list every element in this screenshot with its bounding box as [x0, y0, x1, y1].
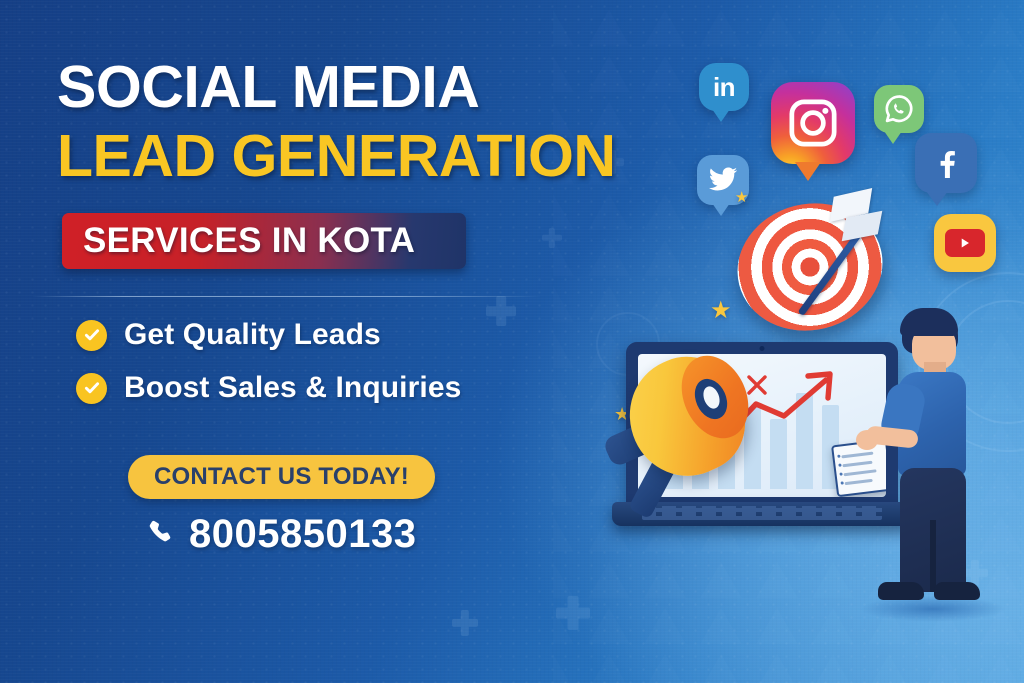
- bubble-tail: [712, 109, 730, 122]
- ribbon-label: SERVICES IN KOTA: [83, 221, 415, 261]
- phone-handset-icon: [146, 517, 176, 552]
- checklist-dot: [838, 463, 841, 466]
- cta-label: CONTACT US TODAY!: [154, 463, 409, 491]
- dartboard-target-icon: [737, 196, 887, 336]
- youtube-icon[interactable]: [934, 214, 996, 272]
- twitter-bird-glyph: [706, 163, 740, 197]
- phone-contact[interactable]: 8005850133: [146, 512, 416, 557]
- facebook-glyph: [928, 145, 964, 181]
- whatsapp-icon[interactable]: [874, 85, 924, 133]
- instagram-camera-glyph: [786, 96, 840, 150]
- plus-motif-icon: [452, 610, 478, 636]
- bubble-tail: [884, 131, 902, 144]
- bubble-tail: [795, 162, 821, 181]
- youtube-play-badge: [945, 229, 985, 257]
- plus-motif-icon: [542, 228, 562, 248]
- star-icon: ★: [710, 296, 732, 325]
- whatsapp-glyph: [882, 92, 916, 126]
- promotional-banner: SOCIAL MEDIA LEAD GENERATION SERVICES IN…: [0, 0, 1024, 683]
- facebook-icon[interactable]: [915, 133, 977, 193]
- plus-motif-icon: [486, 296, 516, 326]
- list-item: Get Quality Leads: [76, 318, 461, 352]
- check-circle-icon: [76, 320, 107, 351]
- target-rings: [724, 188, 896, 346]
- person-shoe: [878, 582, 924, 600]
- section-divider: [32, 296, 542, 297]
- plus-motif-icon: [556, 596, 590, 630]
- checklist-line: [841, 452, 873, 459]
- linkedin-icon[interactable]: in: [699, 63, 749, 111]
- person-shoe: [934, 582, 980, 600]
- benefits-list: Get Quality Leads Boost Sales & Inquirie…: [76, 318, 461, 424]
- megaphone-icon: [592, 352, 772, 512]
- benefit-label: Boost Sales & Inquiries: [124, 371, 461, 405]
- checklist-dot: [841, 481, 844, 484]
- benefit-label: Get Quality Leads: [124, 318, 381, 352]
- bubble-tail: [926, 191, 948, 206]
- headline-line-1: SOCIAL MEDIA: [57, 58, 479, 117]
- laptop-camera: [760, 346, 765, 351]
- checklist-line: [845, 479, 873, 485]
- person-hand: [856, 430, 878, 450]
- bubble-tail: [712, 203, 730, 216]
- standing-person-icon: [872, 310, 990, 610]
- play-triangle-icon: [958, 236, 972, 250]
- phone-number: 8005850133: [189, 512, 416, 557]
- person-leg-split: [930, 520, 936, 592]
- checklist-dot: [839, 472, 842, 475]
- check-circle-icon: [76, 373, 107, 404]
- location-ribbon: SERVICES IN KOTA: [62, 213, 466, 269]
- linkedin-label: in: [713, 74, 735, 100]
- checklist-line: [842, 461, 872, 468]
- checklist-dot: [837, 455, 840, 458]
- instagram-icon[interactable]: [771, 82, 855, 164]
- person-hair-top: [900, 308, 958, 336]
- list-item: Boost Sales & Inquiries: [76, 371, 461, 405]
- contact-us-button[interactable]: CONTACT US TODAY!: [128, 455, 435, 499]
- headline-line-2: LEAD GENERATION: [57, 127, 615, 186]
